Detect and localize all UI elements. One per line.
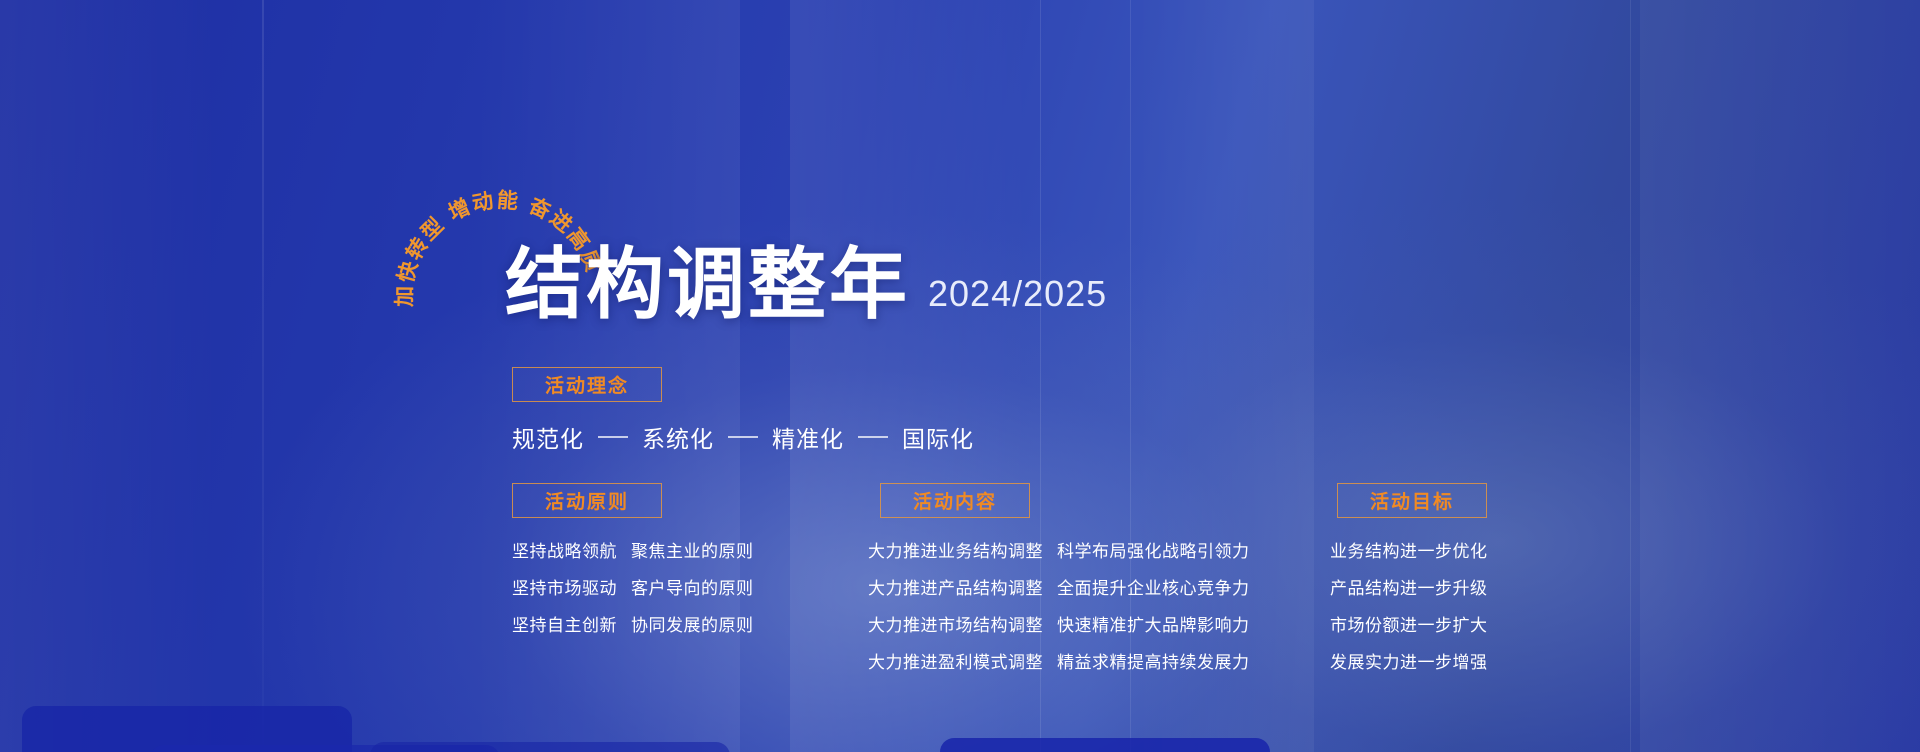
- column-activity-principle: 坚持战略领航聚焦主业的原则坚持市场驱动客户导向的原则坚持自主创新协同发展的原则: [512, 537, 754, 636]
- badge-activity-contents: 活动内容: [880, 483, 1030, 518]
- column-activity-contents: 大力推进业务结构调整科学布局强化战略引领力大力推进产品结构调整全面提升企业核心竞…: [868, 537, 1250, 673]
- list-item-primary: 市场份额进一步扩大: [1330, 611, 1488, 636]
- list-item-primary: 发展实力进一步增强: [1330, 648, 1488, 673]
- concept-item-1: 系统化: [642, 420, 714, 454]
- list-item-primary: 大力推进产品结构调整: [868, 574, 1043, 599]
- list-item: 发展实力进一步增强: [1330, 648, 1488, 673]
- list-item-primary: 坚持自主创新: [512, 611, 617, 636]
- list-item-secondary: 协同发展的原则: [631, 611, 754, 636]
- column-activity-goals: 业务结构进一步优化产品结构进一步升级市场份额进一步扩大发展实力进一步增强: [1330, 537, 1488, 673]
- list-item-secondary: 科学布局强化战略引领力: [1057, 537, 1250, 562]
- list-item-secondary: 快速精准扩大品牌影响力: [1057, 611, 1250, 636]
- list-item-primary: 业务结构进一步优化: [1330, 537, 1488, 562]
- concept-item-2: 精准化: [772, 420, 844, 454]
- list-item-primary: 坚持战略领航: [512, 537, 617, 562]
- list-item-secondary: 精益求精提高持续发展力: [1057, 648, 1250, 673]
- dash-separator-icon: [598, 436, 628, 438]
- list-item-primary: 产品结构进一步升级: [1330, 574, 1488, 599]
- page-title: 结构调整年: [505, 245, 910, 323]
- year-label: 2024/2025: [928, 273, 1107, 315]
- list-item: 坚持战略领航聚焦主业的原则: [512, 537, 754, 562]
- badge-activity-concept: 活动理念: [512, 367, 662, 402]
- list-item: 大力推进产品结构调整全面提升企业核心竞争力: [868, 574, 1250, 599]
- dash-separator-icon: [728, 436, 758, 438]
- concept-item-0: 规范化: [512, 420, 584, 454]
- list-item: 产品结构进一步升级: [1330, 574, 1488, 599]
- list-item-primary: 坚持市场驱动: [512, 574, 617, 599]
- badge-activity-goals: 活动目标: [1337, 483, 1487, 518]
- title-row: 结构调整年 2024/2025: [505, 245, 1107, 323]
- promo-banner: 加快转型 增动能 奋进高质量 发展新征程 结构调整年 2024/2025 活动理…: [0, 0, 1920, 752]
- list-item-secondary: 聚焦主业的原则: [631, 537, 754, 562]
- concept-item-3: 国际化: [902, 420, 974, 454]
- list-item: 坚持市场驱动客户导向的原则: [512, 574, 754, 599]
- dash-separator-icon: [858, 436, 888, 438]
- concept-items-row: 规范化 系统化 精准化 国际化: [512, 420, 974, 454]
- list-item-primary: 大力推进业务结构调整: [868, 537, 1043, 562]
- list-item: 大力推进市场结构调整快速精准扩大品牌影响力: [868, 611, 1250, 636]
- list-item-primary: 大力推进盈利模式调整: [868, 648, 1043, 673]
- list-item: 市场份额进一步扩大: [1330, 611, 1488, 636]
- list-item: 大力推进业务结构调整科学布局强化战略引领力: [868, 537, 1250, 562]
- list-item-secondary: 全面提升企业核心竞争力: [1057, 574, 1250, 599]
- list-item: 坚持自主创新协同发展的原则: [512, 611, 754, 636]
- list-item-primary: 大力推进市场结构调整: [868, 611, 1043, 636]
- list-item: 业务结构进一步优化: [1330, 537, 1488, 562]
- badge-activity-principle: 活动原则: [512, 483, 662, 518]
- list-item-secondary: 客户导向的原则: [631, 574, 754, 599]
- list-item: 大力推进盈利模式调整精益求精提高持续发展力: [868, 648, 1250, 673]
